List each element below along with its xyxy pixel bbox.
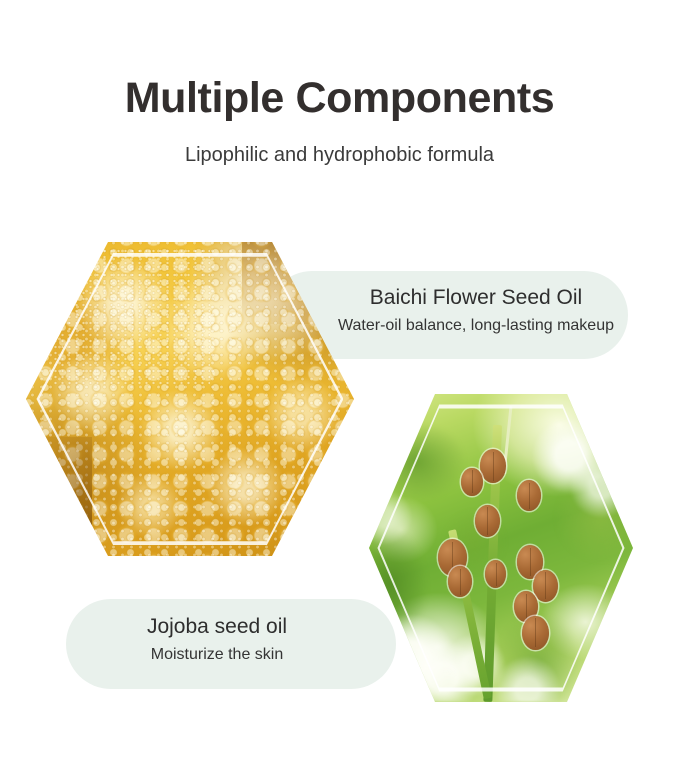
page-subtitle: Lipophilic and hydrophobic formula (0, 141, 679, 169)
plant-photo-image (369, 394, 633, 702)
infographic-panel: Multiple Components Lipophilic and hydro… (0, 0, 679, 766)
component-label-pill-jojoba (66, 599, 396, 689)
page-title: Multiple Components (0, 72, 679, 124)
component-hexagon-jojoba-seed-oil (369, 394, 633, 702)
